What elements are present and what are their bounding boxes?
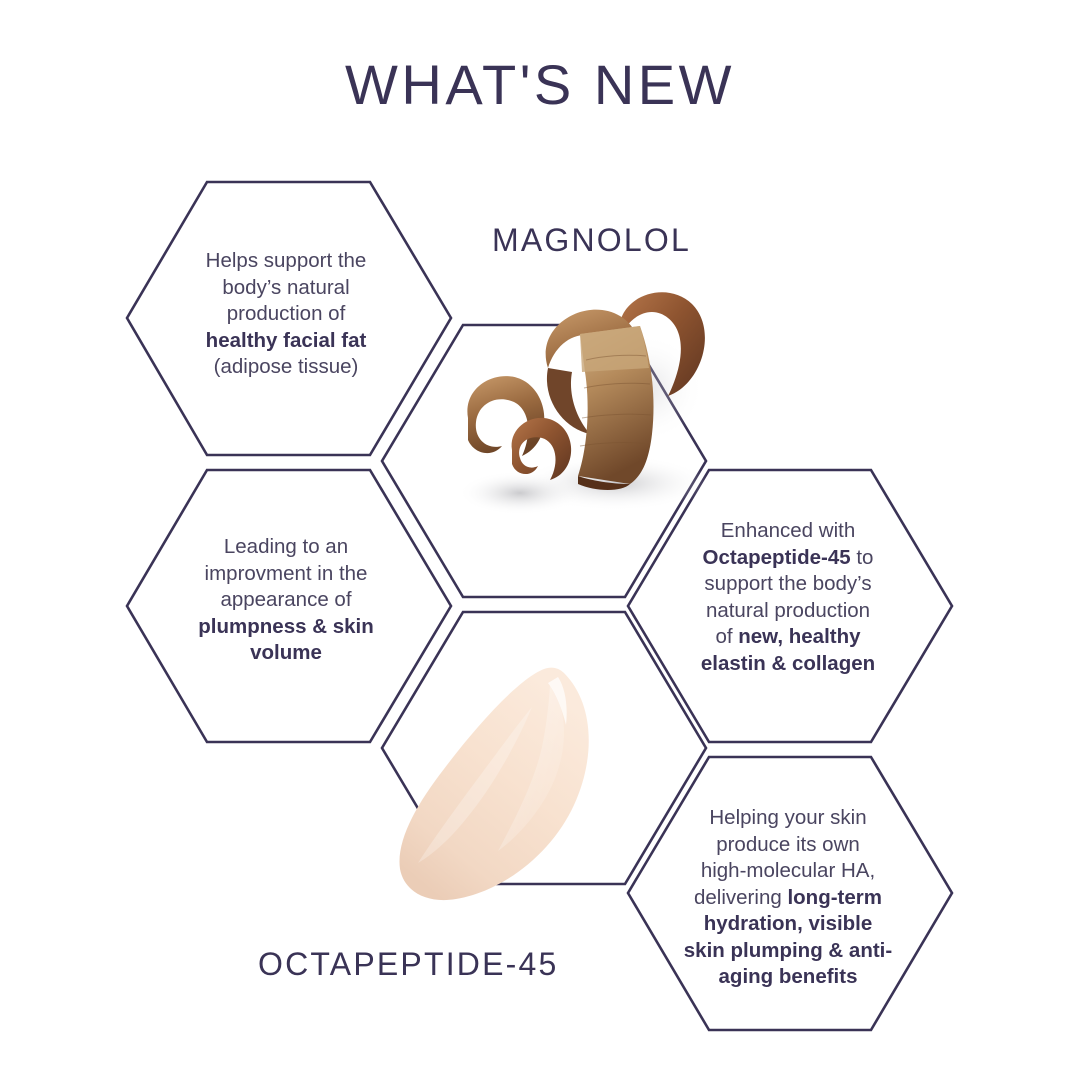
hexagon-text-line: Leading to an	[166, 534, 406, 561]
magnolol-label: MAGNOLOL	[492, 222, 691, 259]
hexagon-text-plumpness: Leading to animprovment in theappearance…	[166, 534, 406, 667]
hexagon-text-line: (adipose tissue)	[166, 354, 406, 381]
hexagon-text-line: Octapeptide-45 to	[668, 545, 908, 572]
hexagon-text-line: support the body’s	[668, 571, 908, 598]
hexagon-text-line: body’s natural	[166, 275, 406, 302]
infographic-canvas: WHAT'S NEW	[0, 0, 1080, 1080]
hexagon-text-line: Helps support the	[166, 248, 406, 275]
page-title: WHAT'S NEW	[0, 52, 1080, 117]
hexagon-text-line: healthy facial fat	[166, 328, 406, 355]
hexagon-text-line: hydration, visible	[668, 911, 908, 938]
cream-swatch-photo	[382, 655, 632, 915]
hexagon-text-line: Enhanced with	[668, 518, 908, 545]
hexagon-text-line: production of	[166, 301, 406, 328]
hexagon-text-line: appearance of	[166, 587, 406, 614]
hexagon-text-line: elastin & collagen	[668, 651, 908, 678]
hexagon-text-helps-support: Helps support thebody’s naturalproductio…	[166, 248, 406, 381]
hexagon-text-octapeptide: Enhanced withOctapeptide-45 tosupport th…	[668, 518, 908, 677]
hexagon-text-line: natural production	[668, 598, 908, 625]
hexagon-text-line: of new, healthy	[668, 624, 908, 651]
hexagon-text-line: produce its own	[668, 832, 908, 859]
hexagon-text-line: improvment in the	[166, 561, 406, 588]
hexagon-text-hydration: Helping your skinproduce its ownhigh-mol…	[668, 805, 908, 991]
hexagon-text-line: plumpness & skin	[166, 614, 406, 641]
hexagon-text-line: high-molecular HA,	[668, 858, 908, 885]
hexagon-grid	[0, 0, 1080, 1080]
hexagon-text-line: skin plumping & anti-	[668, 938, 908, 965]
hexagon-text-line: delivering long-term	[668, 885, 908, 912]
octapeptide-label: OCTAPEPTIDE-45	[258, 946, 559, 983]
hexagon-text-line: Helping your skin	[668, 805, 908, 832]
hexagon-text-line: aging benefits	[668, 964, 908, 991]
hexagon-text-line: volume	[166, 640, 406, 667]
magnolia-bark-photo	[430, 268, 730, 538]
